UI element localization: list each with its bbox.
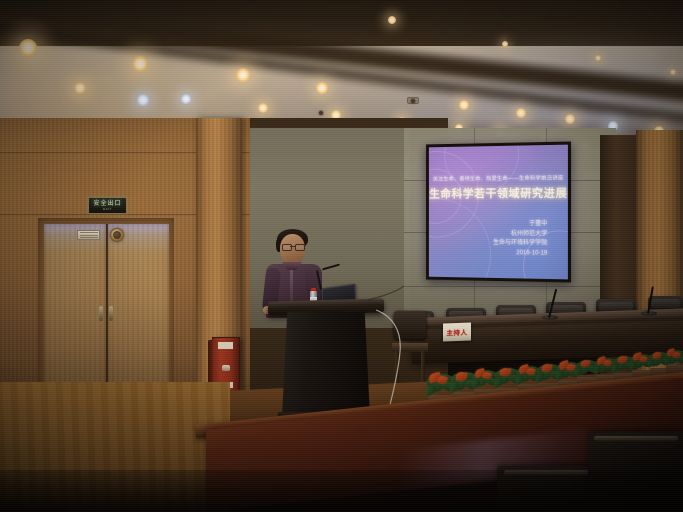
foreground-shadow [0,470,683,512]
ceiling-downlight [516,108,526,118]
door-leaf-right[interactable] [107,224,169,402]
slide-headline: 关注生命、善待生命、热爱生命——生命科学前沿讲座 [429,175,568,182]
stage-side-chair[interactable] [392,311,428,389]
ceiling-downlight [19,39,37,57]
wall-clock [110,228,124,242]
table-name-card: 主持人 [443,323,471,342]
chair-rail [594,436,679,441]
lecture-hall-photo: 安全出口 EXIT 关注生命、善待生命、热爱生命——生命科学前沿讲座 生命科学若… [0,0,683,512]
ceiling-sprinkler [319,111,323,115]
ceiling-downlight [595,55,601,61]
door-leaf-left[interactable] [44,224,106,402]
ceiling-downlight [181,94,191,104]
ceiling-downlight [236,68,250,82]
ceiling-downlight [74,82,86,94]
slide-date: 2016-10-19 [429,248,568,259]
ceiling-downlight [137,94,149,106]
ceiling-downlight [502,41,508,47]
door-handle-right [109,306,113,321]
projection-screen-frame: 关注生命、善待生命、热爱生命——生命科学前沿讲座 生命科学若干领域研究进展 于董… [426,142,571,283]
ceiling-downlight [316,82,328,94]
projection-screen: 关注生命、善待生命、热爱生命——生命科学前沿讲座 生命科学若干领域研究进展 于董… [429,145,568,280]
slide-title: 生命科学若干领域研究进展 [429,188,568,202]
exit-sign: 安全出口 EXIT [88,197,127,214]
ceiling-downlight [459,100,469,110]
ceiling-sprinkler [411,99,415,103]
presenter-glasses [282,244,303,249]
door-handle-left [99,306,103,321]
door-notice-placard [77,230,100,240]
exit-sign-english-label: EXIT [103,207,112,211]
exit-door[interactable] [38,218,174,408]
ceiling-downlight [132,56,148,72]
ceiling-downlight [388,16,396,24]
table-name-card-text: 主持人 [447,327,468,338]
door-center-gap [106,224,108,402]
ceiling-downlight [670,69,676,75]
fire-cabinet-label-top [218,342,233,349]
ceiling-downlight [258,103,268,113]
ceiling-sprinkler [508,37,512,41]
ceiling-downlight [565,114,575,124]
slide-credits: 于董中 杭州师范大学 生命与环境科学学院 2016-10-19 [429,220,568,259]
fire-cabinet-latch [222,365,230,371]
